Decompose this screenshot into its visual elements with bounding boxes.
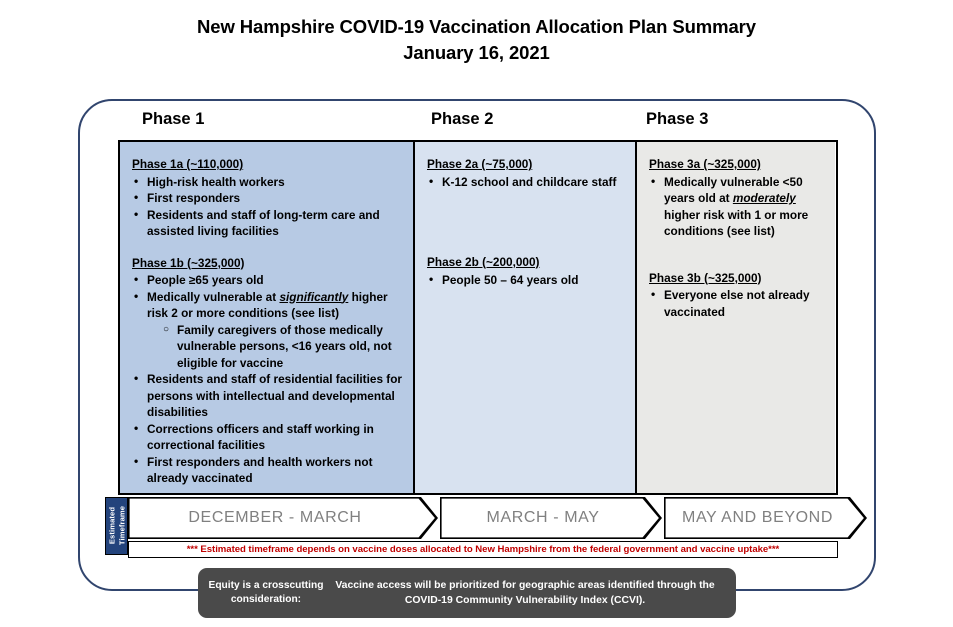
equity-body-line-1: Vaccine access will be prioritized for g… — [335, 580, 714, 591]
phase-3b-heading: Phase 3b (~325,000) — [649, 270, 825, 287]
bullet-icon: • — [134, 189, 138, 206]
timeframe-arrow-2: MARCH - MAY — [440, 497, 662, 539]
list-item: •First responders and health workers not… — [132, 454, 403, 487]
list-item: •K-12 school and childcare staff — [427, 174, 625, 191]
phase-1b-sublist: ○Family caregivers of those medically vu… — [147, 322, 403, 372]
timeframe-arrow-3: MAY AND BEYOND — [664, 497, 867, 539]
equity-label: Equity is a crosscutting consideration: — [198, 579, 328, 608]
phase-2a-list: •K-12 school and childcare staff — [427, 174, 625, 191]
list-item: •Corrections officers and staff working … — [132, 421, 403, 454]
timeframe-arrow-1-inner: DECEMBER - MARCH — [128, 497, 438, 539]
list-item: •High-risk health workers — [132, 174, 403, 191]
phase-header-row: Phase 1 Phase 2 Phase 3 — [118, 110, 838, 138]
list-item-text: People ≥65 years old — [147, 273, 264, 287]
phase-1b-heading: Phase 1b (~325,000) — [132, 255, 403, 272]
list-item-text: High-risk health workers — [147, 175, 285, 189]
bullet-icon: • — [429, 173, 433, 190]
list-item: ○Family caregivers of those medically vu… — [163, 322, 403, 372]
list-item: •People ≥65 years old — [132, 272, 403, 289]
list-item-text: Corrections officers and staff working i… — [147, 422, 374, 453]
bullet-icon: • — [651, 173, 655, 190]
bullet-icon: • — [134, 370, 138, 387]
equity-body-line-2: COVID-19 Community Vulnerability Index (… — [405, 595, 645, 606]
estimated-timeframe-badge: Estimated Timeframe — [105, 497, 128, 555]
list-item-text: First responders — [147, 191, 240, 205]
list-item-text: First responders and health workers not … — [147, 455, 373, 486]
estimated-timeframe-badge-text: Estimated Timeframe — [108, 497, 127, 555]
estimated-timeframe-row: Estimated Timeframe DECEMBER - MARCH MAR… — [105, 497, 865, 539]
list-item: •Residents and staff of residential faci… — [132, 371, 403, 421]
spacer — [132, 240, 403, 255]
phase-3a-list: •Medically vulnerable <50 years old at m… — [649, 174, 825, 240]
text-post: higher risk with 1 or more conditions (s… — [664, 208, 808, 239]
bullet-icon: • — [134, 206, 138, 223]
spacer — [427, 190, 625, 254]
badge-line-2: Timeframe — [117, 506, 126, 545]
list-item-text: Residents and staff of residential facil… — [147, 372, 402, 419]
timeframe-arrow-1-label: DECEMBER - MARCH — [188, 509, 377, 527]
list-item: •Everyone else not already vaccinated — [649, 287, 825, 320]
list-item: •First responders — [132, 190, 403, 207]
list-item: •Medically vulnerable at significantly h… — [132, 289, 403, 372]
phase-2-column: Phase 2a (~75,000) •K-12 school and chil… — [415, 142, 637, 493]
list-item: •Residents and staff of long-term care a… — [132, 207, 403, 240]
phase-header-3: Phase 3 — [646, 110, 708, 129]
phase-3a-heading: Phase 3a (~325,000) — [649, 156, 825, 173]
list-item-text: Medically vulnerable at significantly hi… — [147, 290, 388, 321]
list-item-text: Family caregivers of those medically vul… — [177, 323, 392, 370]
equity-banner: Equity is a crosscutting consideration: … — [198, 568, 736, 618]
phase-3-column: Phase 3a (~325,000) •Medically vulnerabl… — [637, 142, 835, 493]
list-item-text: Everyone else not already vaccinated — [664, 288, 810, 319]
bullet-icon: • — [429, 271, 433, 288]
phase-2b-list: •People 50 – 64 years old — [427, 272, 625, 289]
phase-3b-list: •Everyone else not already vaccinated — [649, 287, 825, 320]
timeframe-arrow-1: DECEMBER - MARCH — [128, 497, 438, 539]
timeframe-arrow-2-label: MARCH - MAY — [487, 509, 616, 527]
circle-bullet-icon: ○ — [163, 322, 169, 339]
phase-1b-list: •People ≥65 years old •Medically vulnera… — [132, 272, 403, 487]
title-line-1: New Hampshire COVID-19 Vaccination Alloc… — [0, 14, 953, 40]
title-line-2: January 16, 2021 — [0, 40, 953, 66]
badge-line-1: Estimated — [108, 507, 117, 544]
bullet-icon: • — [134, 271, 138, 288]
phase-2b-heading: Phase 2b (~200,000) — [427, 254, 625, 271]
bullet-icon: • — [134, 173, 138, 190]
list-item: •People 50 – 64 years old — [427, 272, 625, 289]
list-item-text: People 50 – 64 years old — [442, 273, 578, 287]
list-item-text: Medically vulnerable <50 years old at mo… — [664, 175, 808, 239]
bullet-icon: • — [134, 288, 138, 305]
bullet-icon: • — [651, 286, 655, 303]
phase-2a-heading: Phase 2a (~75,000) — [427, 156, 625, 173]
spacer — [649, 240, 825, 270]
bullet-icon: • — [134, 420, 138, 437]
phase-header-1: Phase 1 — [142, 110, 204, 129]
phase-1-column: Phase 1a (~110,000) •High-risk health wo… — [120, 142, 415, 493]
equity-body: Vaccine access will be prioritized for g… — [328, 578, 736, 609]
phase-1a-heading: Phase 1a (~110,000) — [132, 156, 403, 173]
phase-header-2: Phase 2 — [431, 110, 493, 129]
emphasis-significantly: significantly — [279, 290, 348, 304]
emphasis-moderately: moderately — [733, 191, 796, 205]
page-title: New Hampshire COVID-19 Vaccination Alloc… — [0, 14, 953, 66]
list-item: •Medically vulnerable <50 years old at m… — [649, 174, 825, 240]
phase-1a-list: •High-risk health workers •First respond… — [132, 174, 403, 240]
text-pre: Medically vulnerable at — [147, 290, 279, 304]
phase-columns-grid: Phase 1a (~110,000) •High-risk health wo… — [118, 140, 838, 495]
timeframe-disclaimer: *** Estimated timeframe depends on vacci… — [128, 541, 838, 558]
timeframe-arrow-2-inner: MARCH - MAY — [440, 497, 662, 539]
timeframe-arrow-3-label: MAY AND BEYOND — [682, 509, 849, 527]
timeframe-arrow-3-inner: MAY AND BEYOND — [664, 497, 867, 539]
list-item-text: K-12 school and childcare staff — [442, 175, 616, 189]
bullet-icon: • — [134, 453, 138, 470]
list-item-text: Residents and staff of long-term care an… — [147, 208, 380, 239]
